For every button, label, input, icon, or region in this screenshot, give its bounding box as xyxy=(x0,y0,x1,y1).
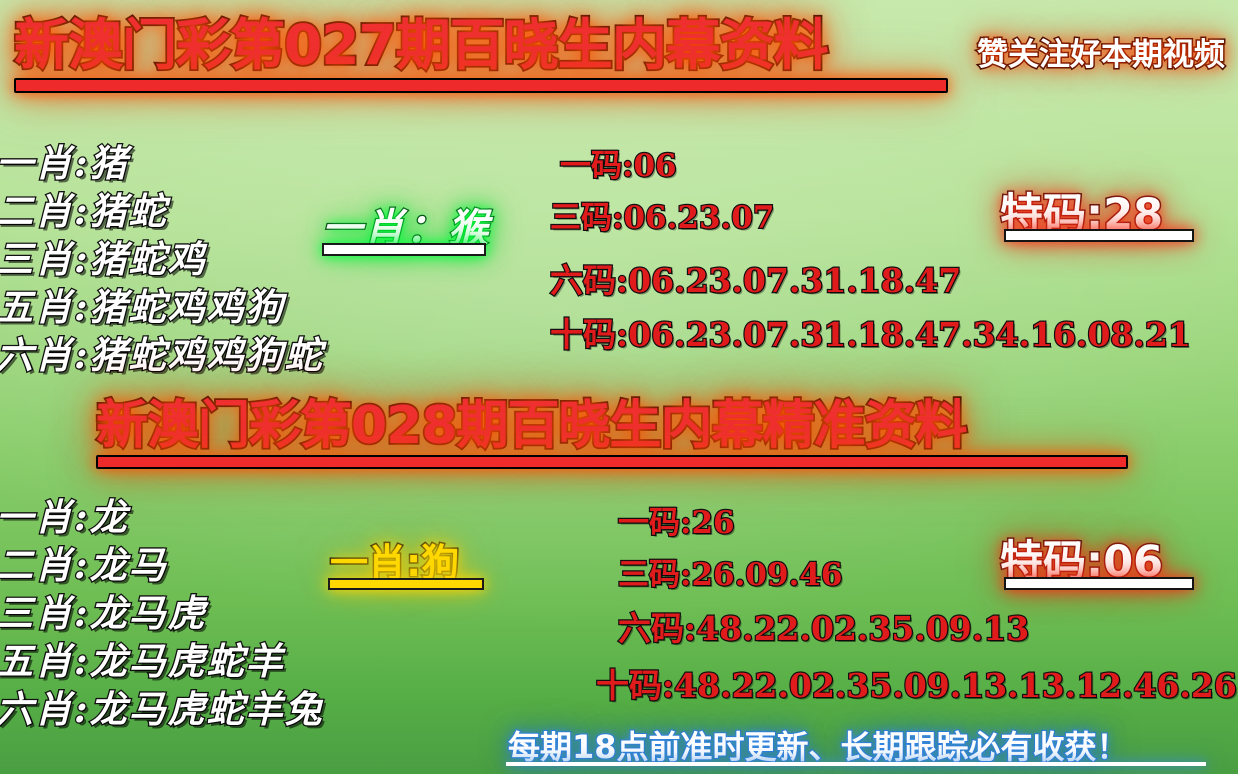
footer-underline xyxy=(506,762,1206,766)
zodiac-row: 三肖:猪蛇鸡 xyxy=(0,229,207,283)
code-line: 十码:06.23.07.31.18.47.34.16.08.21 xyxy=(550,308,1191,356)
section-2-special-underline xyxy=(1004,577,1194,590)
zodiac-row: 六肖:龙马虎蛇羊兔 xyxy=(0,679,324,733)
section-2-pick-underline xyxy=(328,578,484,590)
section-1-special-underline xyxy=(1004,229,1194,242)
code-line: 六码:48.22.02.35.09.13 xyxy=(618,602,1029,650)
code-line: 三码:26.09.46 xyxy=(618,549,842,594)
section-2-title-underline xyxy=(96,455,1128,469)
marquee-banner: 赞关注好本期视频 xyxy=(977,36,1225,74)
code-line: 一码:06 xyxy=(560,140,677,185)
section-1-title: 新澳门彩第027期百晓生内幕资料 xyxy=(14,14,828,76)
code-line: 六码:06.23.07.31.18.47 xyxy=(550,254,961,302)
zodiac-row: 六肖:猪蛇鸡鸡狗蛇 xyxy=(0,325,324,379)
zodiac-row: 五肖:猪蛇鸡鸡狗 xyxy=(0,277,285,331)
code-line: 一码:26 xyxy=(618,497,735,542)
code-line: 三码:06.23.07 xyxy=(550,192,774,237)
zodiac-row: 二肖:龙马 xyxy=(0,535,168,589)
code-line: 十码:48.22.02.35.09.13.13.12.46.26.03 xyxy=(596,659,1238,707)
section-2-title: 新澳门彩第028期百晓生内幕精准资料 xyxy=(96,397,967,455)
zodiac-row: 五肖:龙马虎蛇羊 xyxy=(0,631,285,685)
section-1-title-underline xyxy=(14,78,948,93)
poster-canvas: 新澳门彩第027期百晓生内幕资料 赞关注好本期视频 一肖:猪 二肖:猪蛇 三肖:… xyxy=(0,0,1238,774)
zodiac-row: 二肖:猪蛇 xyxy=(0,181,168,235)
zodiac-row: 一肖:猪 xyxy=(0,133,129,187)
zodiac-row: 一肖:龙 xyxy=(0,487,129,541)
zodiac-row: 三肖:龙马虎 xyxy=(0,583,207,637)
section-1-pick-underline xyxy=(322,243,486,256)
